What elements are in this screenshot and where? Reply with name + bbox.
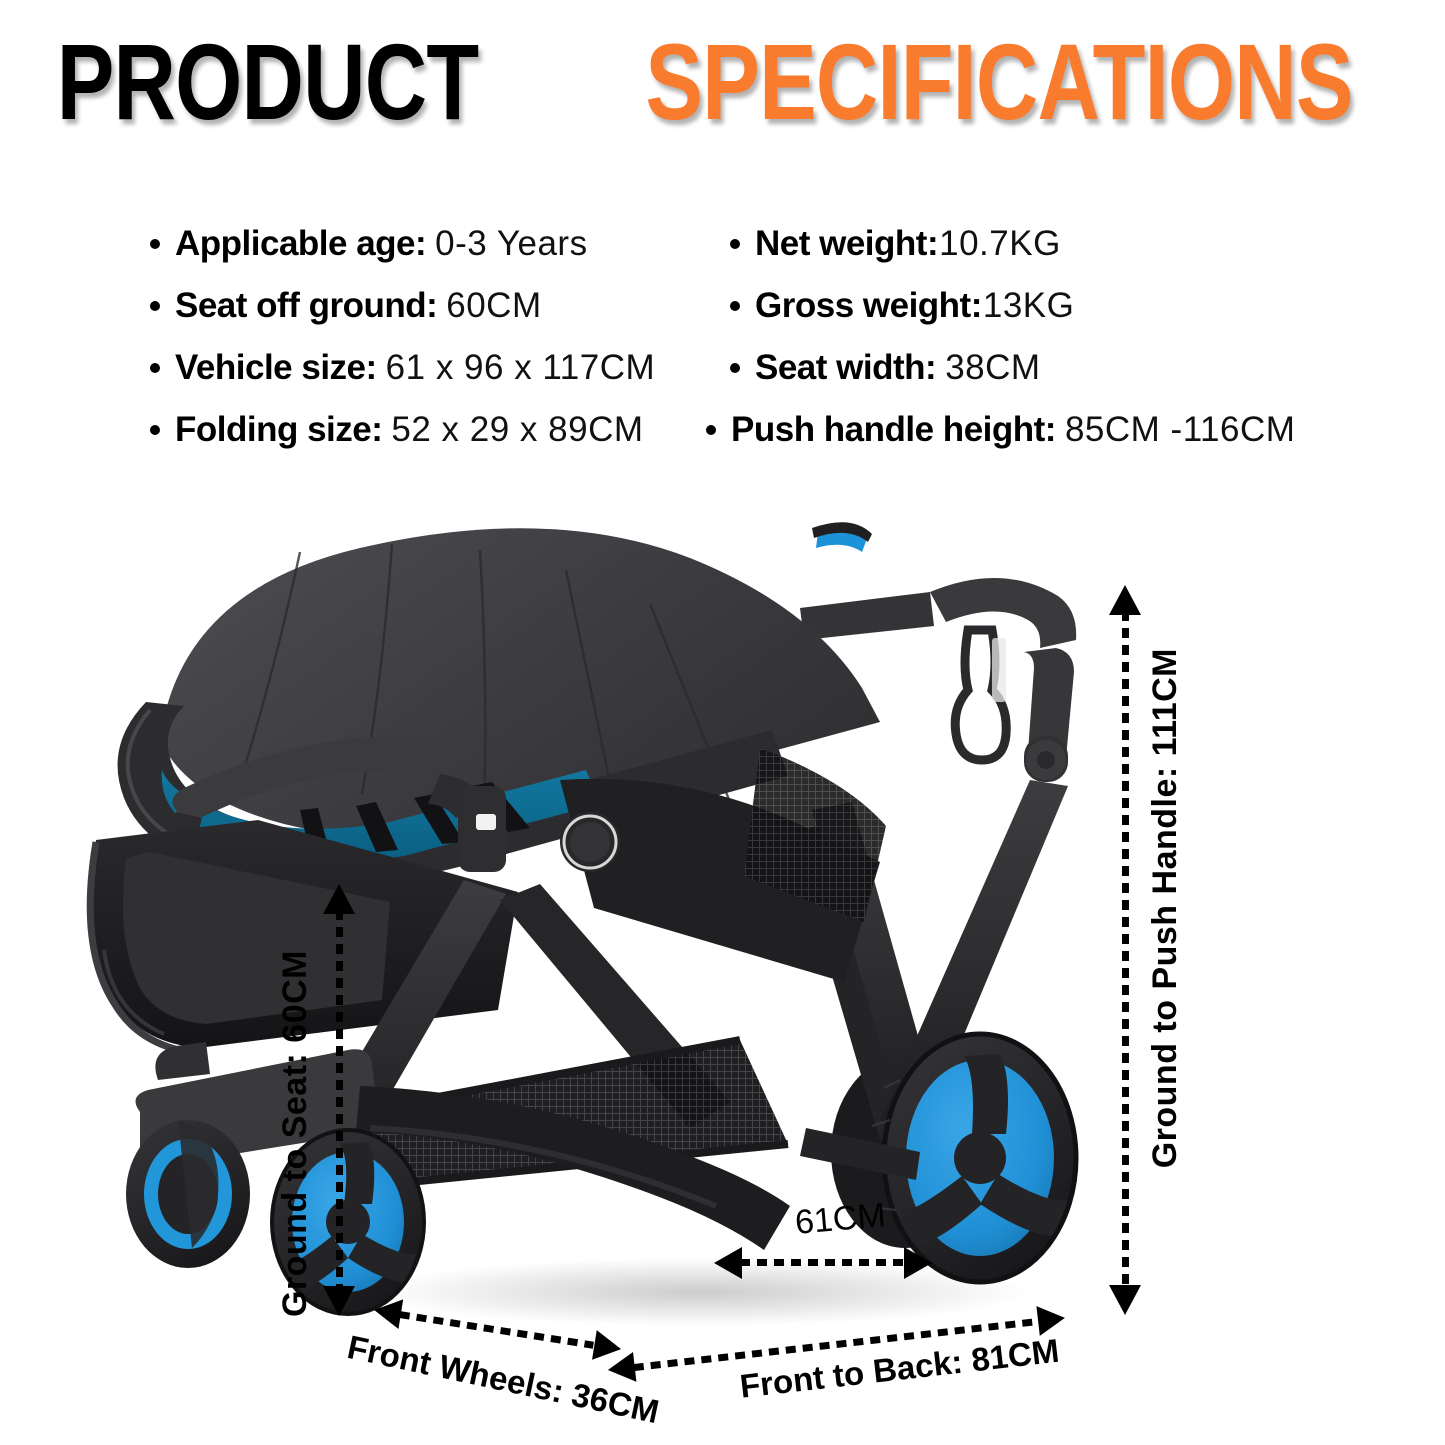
dimension-label-width-61: 61CM: [793, 1196, 887, 1243]
spec-item-seat-off-ground: Seat off ground: 60CM: [150, 286, 730, 326]
spec-value: 52 x 29 x 89CM: [391, 410, 643, 450]
dimension-arrow-seat-height: [332, 884, 346, 1316]
spec-item-applicable-age: Applicable age: 0-3 Years: [150, 224, 730, 264]
spec-key: Folding size:: [175, 410, 382, 450]
specifications-list: Applicable age: 0-3 Years Net weight: 10…: [150, 224, 1330, 472]
spec-item-folding-size: Folding size: 52 x 29 x 89CM: [150, 410, 730, 450]
stroller-illustration: [0, 480, 1445, 1380]
spec-value: 38CM: [945, 348, 1040, 388]
spec-key: Push handle height:: [731, 410, 1056, 450]
spec-value: 85CM -116CM: [1065, 410, 1295, 450]
bullet-icon: [730, 239, 740, 249]
dimension-arrow-push-handle: [1118, 585, 1132, 1315]
dotted-line: [336, 910, 343, 1290]
spec-item-vehicle-size: Vehicle size: 61 x 96 x 117CM: [150, 348, 730, 388]
bullet-icon: [730, 363, 740, 373]
bullet-icon: [150, 301, 160, 311]
spec-item-seat-width: Seat width: 38CM: [730, 348, 1330, 388]
page-title: PRODUCTSPECIFICATIONS: [0, 28, 1445, 136]
dotted-line: [740, 1259, 906, 1266]
dimension-label-push-handle: Ground to Push Handle: 111CM: [1146, 648, 1185, 1168]
spec-row: Folding size: 52 x 29 x 89CM Push handle…: [150, 410, 1330, 472]
arrow-head-right-icon: [1036, 1303, 1066, 1336]
spec-item-push-handle-height: Push handle height: 85CM -116CM: [706, 410, 1306, 450]
spec-key: Vehicle size:: [175, 348, 377, 388]
arrow-head-left-icon: [714, 1247, 742, 1279]
arrow-head-right-icon: [904, 1247, 932, 1279]
spec-value: 60CM: [446, 286, 541, 326]
dimension-arrow-width-61: [714, 1250, 932, 1276]
canopy-vent: [812, 522, 872, 552]
spec-value: 13KG: [983, 286, 1075, 326]
recline-dial: [560, 812, 620, 872]
bullet-icon: [706, 425, 716, 435]
bullet-icon: [150, 425, 160, 435]
bullet-icon: [730, 301, 740, 311]
spec-key: Seat off ground:: [175, 286, 437, 326]
spec-value: 0-3 Years: [435, 224, 587, 264]
spec-key: Gross weight:: [755, 286, 982, 326]
spec-row: Applicable age: 0-3 Years Net weight: 10…: [150, 224, 1330, 286]
arrow-head-down-icon: [323, 1286, 355, 1316]
spec-item-gross-weight: Gross weight: 13KG: [730, 286, 1330, 326]
spec-value: 61 x 96 x 117CM: [386, 348, 656, 388]
bullet-icon: [150, 363, 160, 373]
dotted-line: [1122, 611, 1129, 1289]
bullet-icon: [150, 239, 160, 249]
arrow-head-down-icon: [1109, 1285, 1141, 1315]
spec-key: Applicable age:: [175, 224, 426, 264]
title-part-specifications: SPECIFICATIONS: [645, 28, 1352, 136]
spec-item-net-weight: Net weight: 10.7KG: [730, 224, 1330, 264]
arrow-head-left-icon: [606, 1352, 636, 1385]
spec-row: Seat off ground: 60CM Gross weight: 13KG: [150, 286, 1330, 348]
spec-key: Seat width:: [755, 348, 936, 388]
arrow-head-left-icon: [372, 1295, 403, 1329]
spec-value: 10.7KG: [939, 224, 1061, 264]
spec-row: Vehicle size: 61 x 96 x 117CM Seat width…: [150, 348, 1330, 410]
dimension-label-seat-height: Ground to Seat: 60CM: [276, 950, 315, 1317]
title-part-product: PRODUCT: [57, 28, 479, 136]
spec-key: Net weight:: [755, 224, 938, 264]
